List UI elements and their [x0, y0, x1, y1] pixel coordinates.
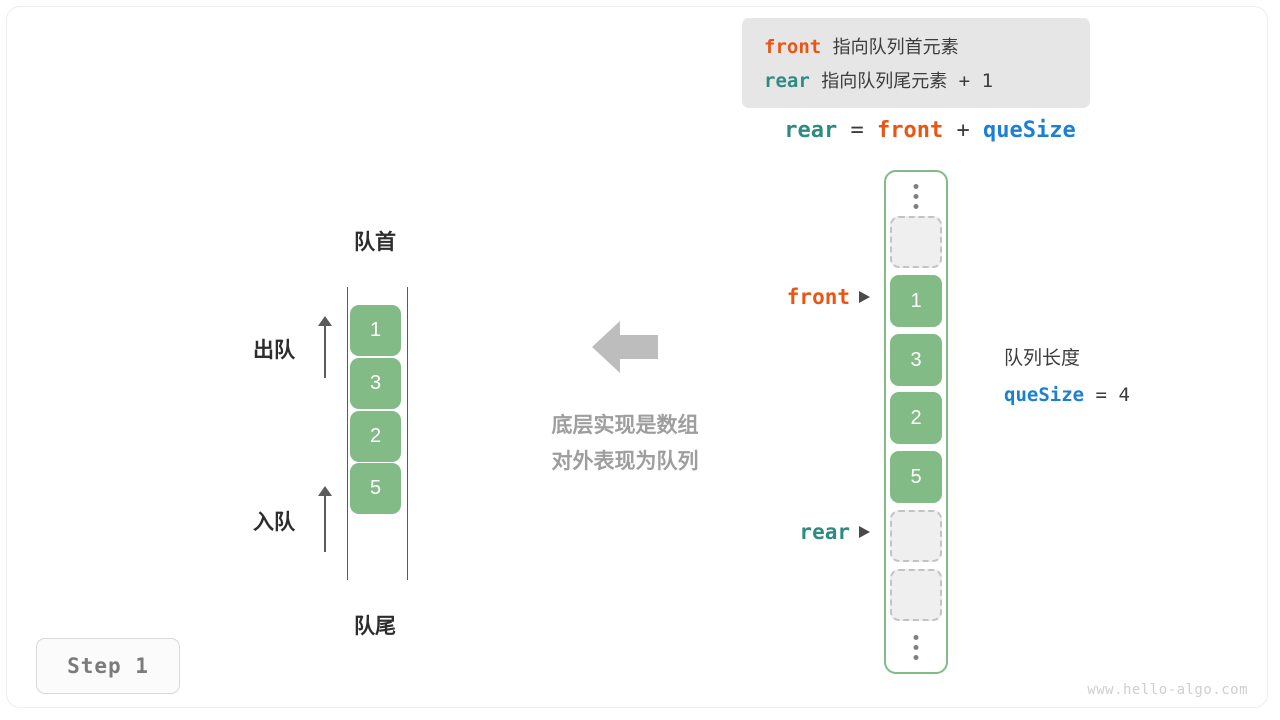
- arrow-right-icon: [859, 291, 870, 303]
- formula-plus: +: [957, 118, 970, 143]
- rear-formula: rear = front + queSize: [760, 118, 1100, 143]
- rear-description: 指向队列尾元素: [821, 71, 947, 91]
- quesize-value: 4: [1118, 384, 1129, 406]
- formula-equals: =: [851, 118, 864, 143]
- array-cell-value: 3: [910, 349, 921, 372]
- enqueue-arrow-up-icon: [318, 486, 332, 552]
- ellipsis-top-icon: [914, 184, 919, 209]
- array-cell-value: 5: [910, 466, 921, 489]
- rear-suffix-operator: +: [959, 70, 970, 92]
- diagram-canvas: front 指向队列首元素 rear 指向队列尾元素 + 1 rear = fr…: [0, 0, 1280, 720]
- implementation-note-line2: 对外表现为队列: [500, 444, 750, 480]
- queue-cell-0: 1: [350, 305, 401, 356]
- rear-pointer-text: rear: [799, 520, 850, 544]
- front-keyword: front: [764, 36, 821, 58]
- dequeue-arrow-up-icon: [318, 316, 332, 378]
- queue-head-label: 队首: [310, 226, 440, 256]
- formula-quesize: queSize: [983, 118, 1076, 143]
- implementation-note: 底层实现是数组 对外表现为队列: [500, 408, 750, 480]
- queue-cell-3: 5: [350, 463, 401, 514]
- watermark: www.hello-algo.com: [1087, 682, 1248, 698]
- implementation-note-line1: 底层实现是数组: [500, 408, 750, 444]
- rear-suffix-value: 1: [982, 70, 993, 92]
- array-container: 1 3 2 5: [884, 170, 948, 674]
- formula-front: front: [877, 118, 943, 143]
- formula-rear: rear: [784, 118, 837, 143]
- front-pointer-label: front: [690, 285, 870, 309]
- dequeue-label: 出队: [253, 334, 295, 364]
- array-cell-2: 2: [890, 392, 942, 444]
- ellipsis-bottom-icon: [914, 635, 919, 660]
- legend-line-front: front 指向队列首元素: [764, 30, 1070, 64]
- array-cell-empty-above: [890, 216, 942, 268]
- array-cell-3: 5: [890, 451, 942, 503]
- queue-size-label: 队列长度: [1004, 340, 1130, 377]
- quesize-equals: =: [1096, 384, 1107, 406]
- queue-cell-value: 1: [370, 319, 381, 342]
- rear-keyword: rear: [764, 70, 810, 92]
- front-pointer-text: front: [787, 285, 850, 309]
- rear-pointer-label: rear: [690, 520, 870, 544]
- array-cell-value: 2: [910, 407, 921, 430]
- step-badge: Step 1: [36, 638, 180, 694]
- array-cell-1: 3: [890, 334, 942, 386]
- queue-size-note: 队列长度 queSize = 4: [1004, 340, 1130, 414]
- queue-rail-left: [347, 287, 348, 580]
- queue-cell-value: 5: [370, 477, 381, 500]
- array-cell-value: 1: [910, 290, 921, 313]
- queue-cell-2: 2: [350, 411, 401, 462]
- array-cell-empty-rear: [890, 510, 942, 562]
- queue-tail-label: 队尾: [310, 610, 440, 640]
- queue-size-expression: queSize = 4: [1004, 377, 1130, 414]
- arrow-left-large-icon: [592, 318, 658, 376]
- front-description: 指向队列首元素: [833, 37, 959, 57]
- quesize-variable: queSize: [1004, 384, 1084, 406]
- queue-cell-1: 3: [350, 358, 401, 409]
- legend-line-rear: rear 指向队列尾元素 + 1: [764, 64, 1070, 98]
- enqueue-label: 入队: [253, 506, 295, 536]
- queue-rail-right: [407, 287, 408, 580]
- array-cell-empty-tail: [890, 569, 942, 621]
- queue-cell-value: 2: [370, 425, 381, 448]
- pointer-legend-box: front 指向队列首元素 rear 指向队列尾元素 + 1: [742, 18, 1090, 108]
- queue-cell-value: 3: [370, 372, 381, 395]
- array-cell-0: 1: [890, 275, 942, 327]
- arrow-right-icon: [859, 526, 870, 538]
